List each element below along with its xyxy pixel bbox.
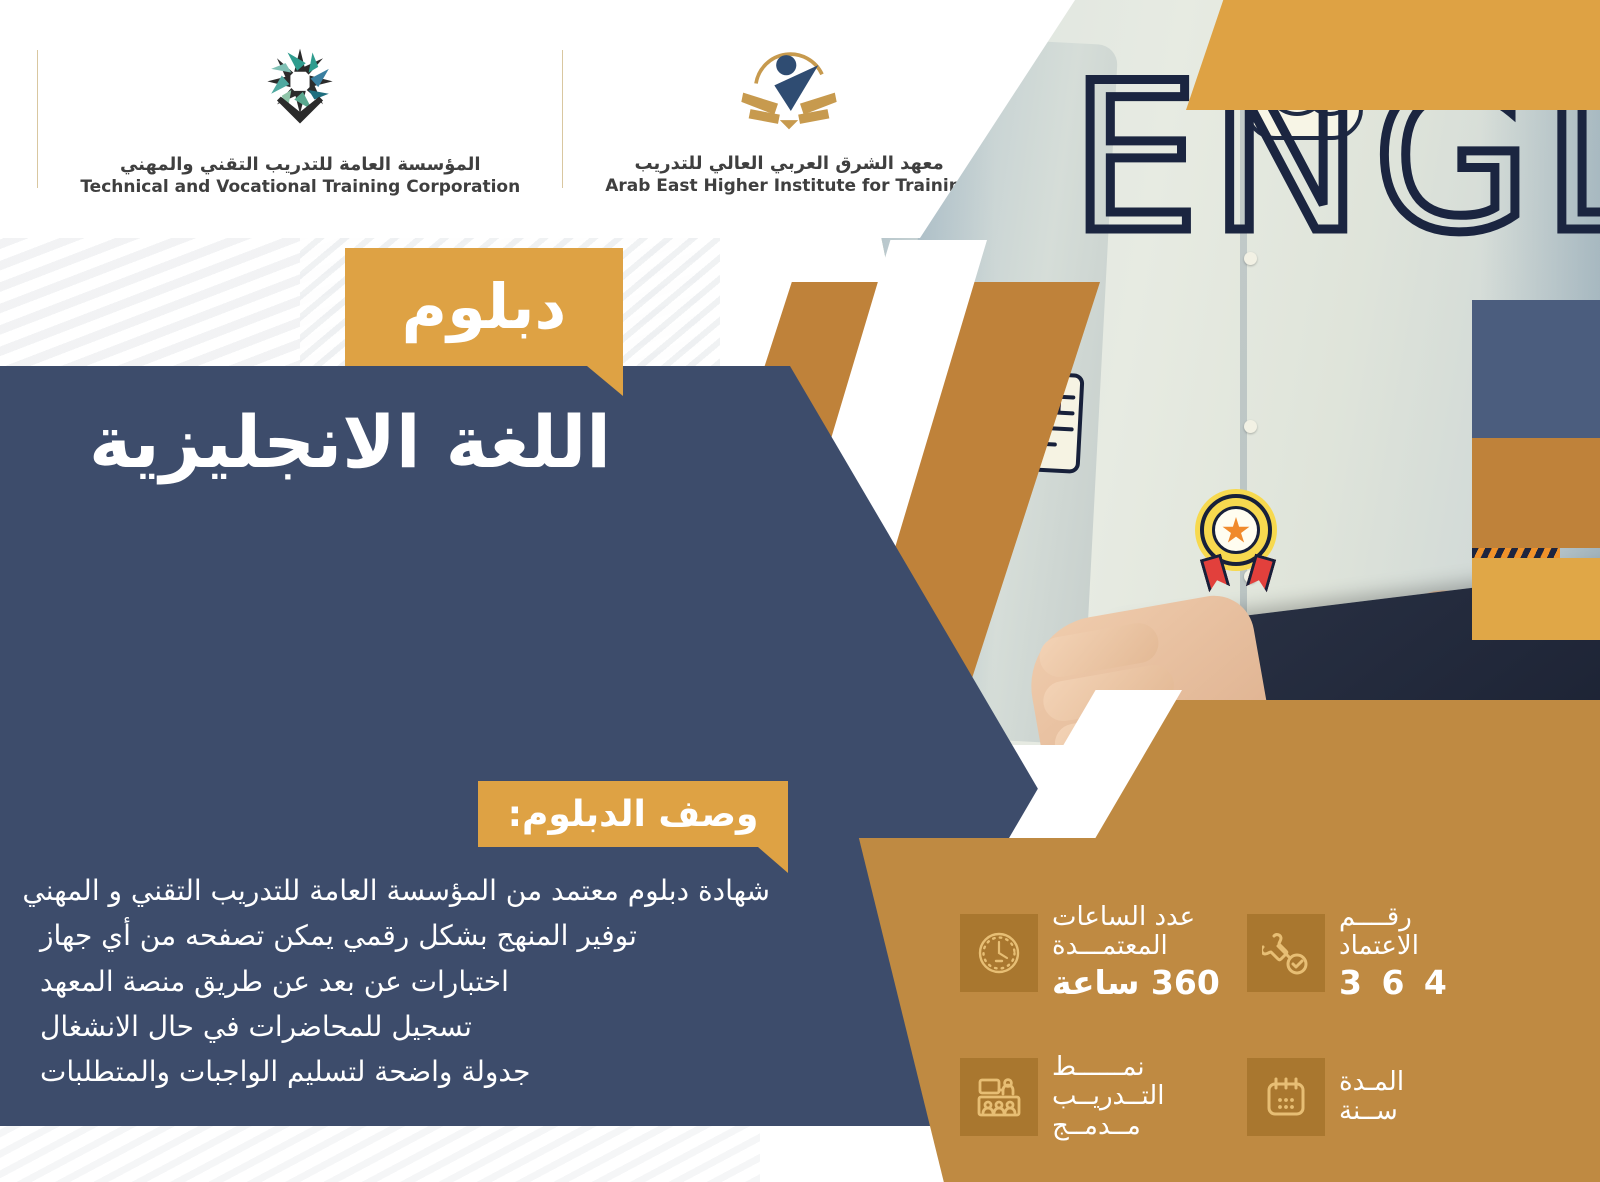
info-card-label-line3: مــدمــج: [1052, 1112, 1164, 1141]
header-logo-bar: المركز الوطني للتعليم الإلكتروني Nationa…: [0, 0, 1075, 238]
info-card-label-line2: ســنة: [1339, 1097, 1404, 1126]
diploma-badge-label: دبلوم: [402, 276, 567, 338]
info-card-value: 3 6 4: [1339, 963, 1451, 1003]
list-item: توفير المنهج بشكل رقمي يمكن تصفحه من أي …: [40, 913, 770, 958]
logo-label-en: Arab East Higher Institute for Training: [605, 175, 973, 197]
info-card-duration: المـدة ســنة: [1247, 1029, 1520, 1165]
logo-national-elearning-center: المركز الوطني للتعليم الإلكتروني Nationa…: [0, 32, 37, 206]
info-card-credit-hours: عدد الساعات المعتمـــدة 360 ساعة: [960, 885, 1233, 1021]
diploma-badge: دبلوم: [345, 248, 623, 366]
description-badge-label: وصف الدبلوم:: [508, 794, 759, 835]
logo-tvtc: المؤسسة العامة للتدريب التقني والمهني Te…: [38, 40, 562, 199]
info-card-label-line1: المـدة: [1339, 1068, 1404, 1097]
clock-icon: [960, 914, 1038, 992]
decor-hazard-stripe: [1472, 548, 1560, 558]
photo-shirt-button: [1244, 420, 1257, 433]
classroom-icon: [960, 1058, 1038, 1136]
info-card-label-line2: التــدريــب: [1052, 1082, 1164, 1111]
decor-gold-top-right: [1186, 0, 1600, 110]
description-badge: وصف الدبلوم:: [478, 781, 788, 847]
logo-group: المركز الوطني للتعليم الإلكتروني Nationa…: [0, 32, 1015, 206]
info-card-label-line2: المعتمـــدة: [1052, 932, 1220, 961]
brochure-canvas: ENGLISH: [0, 0, 1600, 1182]
logo-label-ar-line1: المؤسسة العامة للتدريب التقني والمهني: [120, 154, 481, 177]
calendar-icon: [1247, 1058, 1325, 1136]
award-ribbon-doodle-icon: [1192, 490, 1284, 582]
arab-east-book-person-icon: [734, 41, 844, 141]
info-card-text: عدد الساعات المعتمـــدة 360 ساعة: [1052, 903, 1220, 1003]
info-card-text: المـدة ســنة: [1339, 1068, 1404, 1126]
logo-divider: [562, 50, 563, 188]
info-card-label-line1: نمــــــط: [1052, 1053, 1164, 1082]
info-card-label-line1: رقــــم: [1339, 903, 1451, 932]
page-title: اللغة الانجليزية: [0, 382, 700, 502]
tvtc-flower-icon: [252, 40, 348, 142]
diagonal-stripe-texture-bottom: [0, 1122, 760, 1182]
info-card-value: 360 ساعة: [1052, 963, 1220, 1003]
decor-block-navy: [1472, 300, 1600, 438]
info-card-training-mode: نمــــــط التــدريــب مــدمــج: [960, 1029, 1233, 1165]
info-card-text: رقــــم الاعتماد 3 6 4: [1339, 903, 1451, 1003]
decor-block-gold-dark: [1472, 438, 1600, 548]
list-item: شهادة دبلوم معتمد من المؤسسة العامة للتد…: [40, 868, 770, 913]
description-list: شهادة دبلوم معتمد من المؤسسة العامة للتد…: [40, 868, 770, 1095]
info-card-label-line1: عدد الساعات: [1052, 903, 1220, 932]
info-card-label-line2: الاعتماد: [1339, 932, 1451, 961]
list-item: اختبارات عن بعد عن طريق منصة المعهد: [40, 959, 770, 1004]
list-item: جدولة واضحة لتسليم الواجبات والمتطلبات: [40, 1049, 770, 1094]
info-card-text: نمــــــط التــدريــب مــدمــج: [1052, 1053, 1164, 1140]
stamp-icon: [1247, 914, 1325, 992]
decor-block-gold: [1472, 558, 1600, 640]
logo-label-en: Technical and Vocational Training Corpor…: [80, 176, 520, 198]
list-item: تسجيل للمحاضرات في حال الانشغال: [40, 1004, 770, 1049]
info-card-accreditation-number: رقــــم الاعتماد 3 6 4: [1247, 885, 1520, 1021]
logo-label-ar-line1: معهد الشرق العربي العالي للتدريب: [634, 153, 943, 176]
logo-divider: [37, 50, 38, 188]
info-card-grid: رقــــم الاعتماد 3 6 4 عدد الساعات المعت…: [960, 885, 1520, 1165]
logo-arab-east-institute: معهد الشرق العربي العالي للتدريب Arab Ea…: [563, 41, 1015, 198]
